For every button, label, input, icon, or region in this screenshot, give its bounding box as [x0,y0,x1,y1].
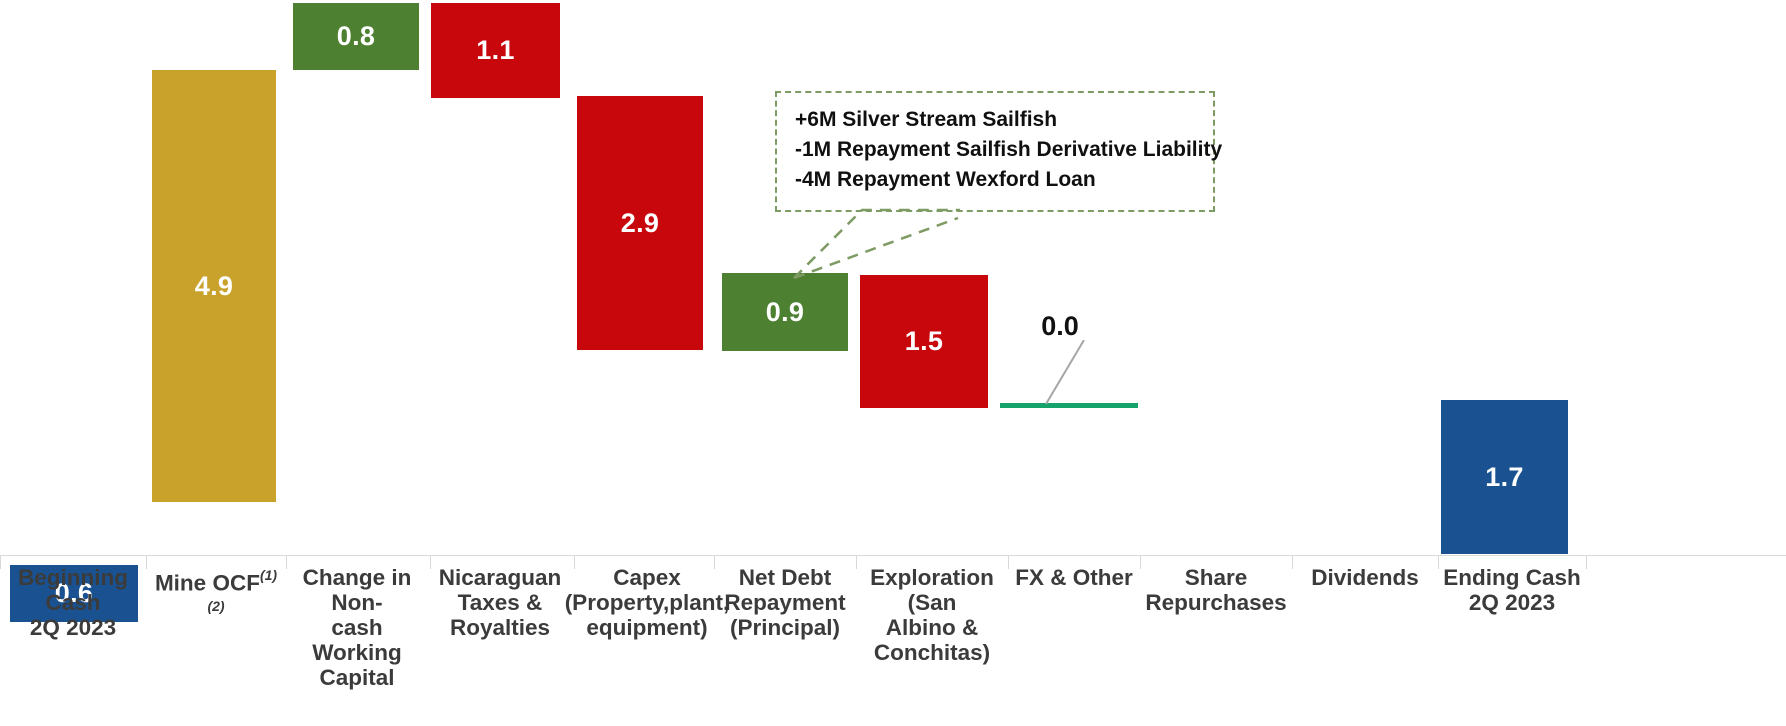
category-label-line: Repayment [714,590,856,615]
category-label-fx-and-other: FX & Other [1008,560,1140,590]
category-label-line: Beginning Cash [0,565,146,615]
category-label-line: Conchitas) [856,640,1008,665]
bar-value-label: 2.9 [621,210,659,237]
category-label-line: (Principal) [714,615,856,640]
category-label-group: Beginning Cash2Q 2023 Mine OCF(1) (2) Ch… [0,560,1786,726]
category-label-capex: Capex(Property,plant,equipment) [558,560,736,640]
footnote-marker: (1) (2) [207,567,277,614]
bar-capex[interactable]: 2.9 [577,96,703,350]
category-label-line: Capital [286,665,428,690]
bar-value-label: 0.8 [337,23,375,50]
category-label-mine-ocf: Mine OCF(1) (2) [148,560,284,626]
bar-mine-ocf[interactable]: 4.9 [152,70,276,502]
category-label-line: Ending Cash [1438,565,1586,590]
bar-nicaraguan-taxes[interactable]: 1.1 [431,3,560,98]
category-label-ending-cash: Ending Cash2Q 2023 [1438,560,1586,615]
category-label-line: cash Working [286,615,428,665]
bar-value-label: 0.9 [766,299,804,326]
category-label-line: Repurchases [1140,590,1292,615]
category-label-exploration: Exploration (SanAlbino &Conchitas) [856,560,1008,665]
bar-value-label: 1.7 [1485,464,1523,491]
callout-box: +6M Silver Stream Sailfish -1M Repayment… [775,91,1215,212]
category-label-line: 2Q 2023 [1438,590,1586,615]
bar-ending-cash[interactable]: 1.7 [1441,400,1568,554]
zero-leader-line [1040,340,1100,406]
category-label-line: Net Debt [714,565,856,590]
category-label-line: 2Q 2023 [0,615,146,640]
callout-line-2: -1M Repayment Sailfish Derivative Liabil… [795,135,1213,165]
bar-change-working-capital[interactable]: 0.8 [293,3,419,70]
category-label-line: Share [1140,565,1292,590]
bar-net-debt-repayment[interactable]: 0.9 [722,273,848,351]
category-label-net-debt-repayment: Net DebtRepayment(Principal) [714,560,856,640]
category-label-dividends: Dividends [1292,560,1438,590]
category-axis-line [0,555,1786,556]
bar-value-label: 1.5 [905,328,943,355]
category-label-beginning-cash: Beginning Cash2Q 2023 [0,560,146,640]
bar-value-label: 1.1 [476,37,514,64]
category-label-line: Taxes & [430,590,570,615]
category-label-line: Mine OCF(1) (2) [148,565,284,626]
category-label-line: Albino & [856,615,1008,640]
plot-area: 0.6 4.9 0.8 1.1 2.9 0.9 1.5 1.7 0.0 [0,0,1786,556]
bar-fx-and-other[interactable] [1000,403,1138,408]
category-label-change-working-capital: Change in Non-cash WorkingCapital [286,560,428,690]
category-label-line: Dividends [1292,565,1438,590]
bar-value-label: 4.9 [195,273,233,300]
category-label-line: Nicaraguan [430,565,570,590]
zero-value-annotation: 0.0 [1022,313,1098,340]
callout-line-3: -4M Repayment Wexford Loan [795,165,1213,195]
category-label-line: Capex [558,565,736,590]
bar-exploration[interactable]: 1.5 [860,275,988,408]
category-label-share-repurchases: ShareRepurchases [1140,560,1292,615]
category-label-line: Change in Non- [286,565,428,615]
category-label-line: Royalties [430,615,570,640]
callout-line-1: +6M Silver Stream Sailfish [795,105,1213,135]
category-label-line: Exploration (San [856,565,1008,615]
category-label-line: equipment) [558,615,736,640]
category-label-nicaraguan-taxes: NicaraguanTaxes &Royalties [430,560,570,640]
waterfall-chart: 0.6 4.9 0.8 1.1 2.9 0.9 1.5 1.7 0.0 [0,0,1786,726]
category-label-line: (Property,plant, [558,590,736,615]
category-label-line: FX & Other [1008,565,1140,590]
